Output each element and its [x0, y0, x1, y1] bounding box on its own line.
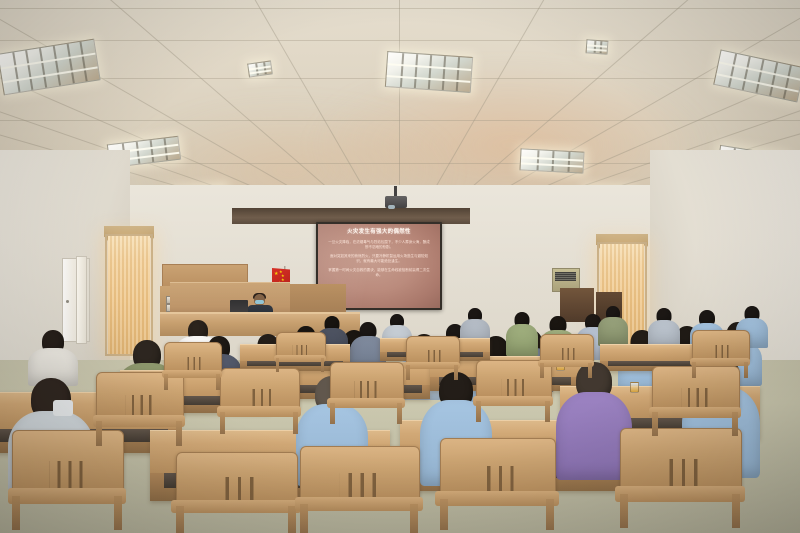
person-torso — [506, 324, 538, 356]
ceiling-grid-crossline — [0, 8, 800, 9]
chair-slats — [711, 345, 730, 359]
chair-slats — [49, 461, 86, 490]
chair-slats — [501, 379, 526, 397]
chair-backrest — [440, 438, 556, 497]
ceiling-grid-line — [399, 0, 400, 215]
chair-leg — [732, 412, 738, 436]
wooden-chair — [176, 452, 296, 533]
chair-leg — [546, 499, 554, 530]
wooden-chair — [276, 332, 324, 372]
chair-seat — [162, 370, 222, 378]
chair-leg — [620, 494, 628, 528]
chair-seat — [435, 491, 558, 506]
chair-leg — [540, 363, 544, 378]
wooden-chair — [330, 362, 402, 424]
chair-seat — [649, 407, 742, 418]
chair-backrest — [330, 362, 404, 402]
chair-leg — [220, 412, 225, 434]
chair-slats — [247, 389, 274, 408]
wooden-chair — [220, 368, 298, 434]
chair-seat — [8, 488, 127, 504]
chair-leg — [288, 506, 296, 533]
chair-slats — [424, 350, 442, 363]
person-torso — [598, 317, 628, 346]
chair-leg — [321, 358, 324, 372]
chair-leg — [454, 365, 458, 380]
chair-leg — [545, 401, 550, 422]
chair-backrest — [164, 342, 222, 374]
chair-leg — [293, 412, 298, 434]
chair-leg — [300, 504, 308, 533]
chair-slats — [479, 466, 518, 492]
chair-leg — [440, 499, 448, 530]
ceiling-light-fixture — [247, 60, 273, 77]
wooden-chair — [406, 336, 458, 380]
chair-backrest — [692, 330, 750, 362]
face-mask-icon — [53, 400, 73, 416]
chair-leg — [216, 374, 220, 390]
chair-slats — [125, 395, 154, 416]
chair-leg — [732, 494, 740, 528]
chair-backrest — [220, 368, 300, 411]
wooden-chair — [692, 330, 748, 378]
chair-leg — [406, 365, 410, 380]
chair-seat — [538, 360, 594, 367]
chair-slats — [558, 348, 576, 361]
chair-seat — [327, 398, 405, 408]
slide-paragraph-1: 一旦火灾降临，在浓烟毒气与烈焰包围下，不少人葬身火海，酿成惨不忍睹的悲剧。 — [327, 240, 431, 250]
chair-backrest — [176, 452, 298, 505]
chair-slats — [340, 473, 380, 498]
ac-grill — [555, 272, 576, 281]
ceiling-light-fixture — [586, 39, 609, 55]
face-mask-icon — [255, 300, 264, 304]
slide-paragraph-3: 掌握第一时间火灾自救的要诀，能够在生命线被掐断前赢得二次生命。 — [327, 268, 431, 278]
ceiling-grid-crossline — [0, 120, 800, 121]
chair-seat — [295, 497, 422, 511]
door-knob-icon[interactable] — [66, 300, 69, 303]
ceiling-light-fixture — [385, 51, 473, 93]
wooden-chair — [164, 342, 220, 390]
chair-leg — [588, 363, 592, 378]
audience-member — [506, 312, 538, 356]
chair-leg — [330, 403, 335, 424]
ceiling-grid-crossline — [0, 40, 800, 41]
chair-leg — [176, 421, 182, 446]
chair-slats — [217, 477, 258, 500]
chair-seat — [274, 355, 326, 361]
wooden-chair — [300, 446, 418, 533]
wooden-chair — [540, 334, 592, 378]
chair-seat — [690, 358, 750, 366]
chair-leg — [114, 496, 122, 530]
chair-backrest — [300, 446, 420, 503]
projector-lens-icon — [388, 205, 395, 209]
meeting-room-photo: 火灾发生有强大的偶然性 一旦火灾降临，在浓烟毒气与烈焰包围下，不少人葬身火海，酿… — [0, 0, 800, 533]
chair-leg — [164, 374, 168, 390]
window-with-curtain — [108, 236, 150, 354]
chair-leg — [96, 421, 102, 446]
ceiling-light-fixture — [0, 39, 101, 96]
slide-title: 火灾发生有强大的偶然性 — [347, 230, 411, 236]
wooden-chair — [476, 360, 550, 422]
chair-slats — [681, 388, 710, 408]
chair-seat — [615, 486, 745, 502]
chair-backrest — [406, 336, 460, 365]
chair-leg — [397, 403, 402, 424]
chair-slats — [355, 381, 379, 399]
chair-leg — [652, 412, 658, 436]
chair-slats — [183, 357, 202, 371]
ceiling-light-fixture — [519, 148, 584, 173]
chair-leg — [410, 504, 418, 533]
chair-backrest — [540, 334, 594, 363]
wooden-chair — [620, 428, 740, 528]
chair-seat — [404, 362, 460, 369]
wooden-chair — [440, 438, 554, 530]
chair-leg — [744, 362, 748, 378]
chair-leg — [12, 496, 20, 530]
chair-leg — [176, 506, 184, 533]
curtain[interactable] — [108, 236, 150, 354]
chair-seat — [93, 415, 186, 427]
chair-seat — [217, 406, 301, 417]
chair-leg — [276, 358, 279, 372]
chair-seat — [473, 396, 553, 406]
chair-backrest — [620, 428, 742, 492]
slide-paragraph-2: 面对突如其来的熊熊烈火，只要冷静机智运用火场逃生与避险知识，就有最大可能绝处逢生… — [327, 254, 431, 264]
chair-seat — [171, 500, 301, 513]
chair-slats — [661, 459, 702, 488]
chair-leg — [476, 401, 481, 422]
chair-leg — [692, 362, 696, 378]
audience-member — [598, 306, 628, 346]
